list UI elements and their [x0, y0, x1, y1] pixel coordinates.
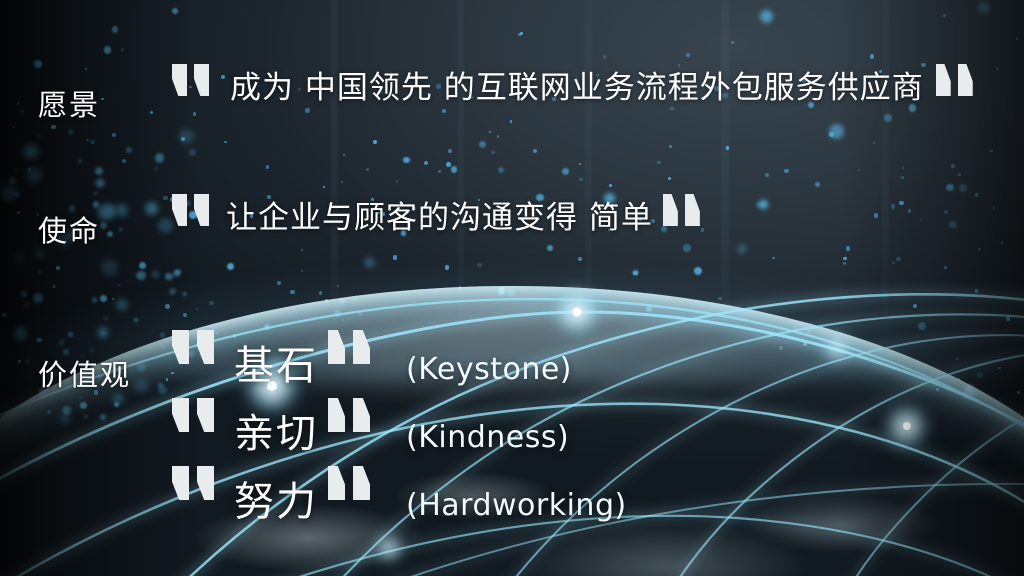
open-quote-icon	[172, 330, 222, 364]
value-item-kindness: 亲切 (Kindness)	[172, 398, 569, 454]
value-item-keystone: 基石 (Keystone)	[172, 330, 572, 386]
close-quote-icon	[328, 330, 378, 364]
value-chinese: 努力	[234, 482, 318, 522]
value-chinese: 亲切	[234, 414, 318, 454]
close-quote-icon	[328, 398, 378, 432]
close-quote-icon	[328, 466, 378, 500]
vision-label: 愿景	[38, 82, 100, 124]
value-english: (Kindness)	[406, 423, 569, 453]
value-chinese: 基石	[234, 346, 318, 386]
open-quote-icon	[172, 64, 216, 96]
mission-label: 使命	[38, 208, 100, 250]
vision-text-after: 的互联网业务流程外包服务供应商	[433, 70, 924, 106]
vision-text: 成为 中国领先 的互联网业务流程外包服务供应商	[230, 62, 924, 107]
mission-text: 让企业与顾客的沟通变得 简单	[226, 192, 653, 237]
close-quote-icon	[663, 194, 707, 226]
mission-text-before: 让企业与顾客的沟通变得	[226, 200, 589, 236]
value-item-hardworking: 努力 (Hardworking)	[172, 466, 627, 522]
values-label: 价值观	[38, 352, 131, 394]
slide-content: 愿景 成为 中国领先 的互联网业务流程外包服务供应商 使命 让企业与顾客的沟通变…	[0, 0, 1024, 576]
vision-statement: 成为 中国领先 的互联网业务流程外包服务供应商	[172, 62, 980, 107]
value-english: (Keystone)	[406, 355, 572, 385]
mission-text-emphasis: 简单	[589, 200, 653, 236]
open-quote-icon	[172, 398, 222, 432]
open-quote-icon	[172, 466, 222, 500]
value-english: (Hardworking)	[406, 491, 627, 521]
vision-text-before: 成为	[230, 70, 305, 106]
presentation-slide: 愿景 成为 中国领先 的互联网业务流程外包服务供应商 使命 让企业与顾客的沟通变…	[0, 0, 1024, 576]
vision-text-emphasis: 中国领先	[305, 70, 433, 106]
open-quote-icon	[172, 194, 216, 226]
mission-statement: 让企业与顾客的沟通变得 简单	[172, 192, 707, 237]
close-quote-icon	[936, 64, 980, 96]
